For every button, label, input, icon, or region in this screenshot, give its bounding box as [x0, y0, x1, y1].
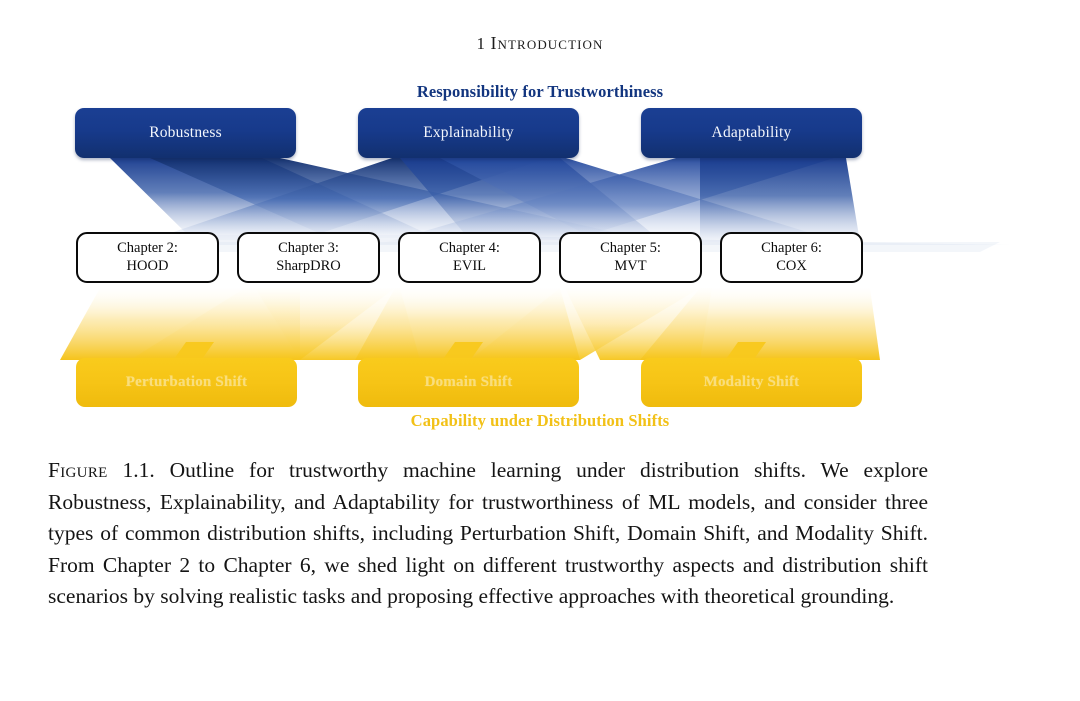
responsibility-node-explainability[interactable]: Explainability	[358, 108, 579, 158]
chapter-line-1: Chapter 4:	[439, 240, 500, 257]
node-label: Modality Shift	[704, 374, 800, 391]
shift-node-modality[interactable]: Modality Shift	[641, 358, 862, 407]
chapter-line-2: HOOD	[117, 258, 178, 275]
shift-node-perturbation[interactable]: Perturbation Shift	[76, 358, 297, 407]
running-header-title: Introduction	[490, 33, 603, 53]
chapter-line-2: EVIL	[439, 258, 500, 275]
caption-figure-label: Figure	[48, 458, 108, 482]
chapter-node-6[interactable]: Chapter 6: COX	[720, 232, 863, 283]
node-label: Perturbation Shift	[126, 374, 248, 391]
chapter-line-2: MVT	[600, 258, 661, 275]
chapter-lines: Chapter 3: SharpDRO	[276, 240, 340, 274]
responsibility-node-adaptability[interactable]: Adaptability	[641, 108, 862, 158]
figure-top-title: Responsibility for Trustworthiness	[0, 82, 1080, 102]
chapter-lines: Chapter 2: HOOD	[117, 240, 178, 274]
chapter-node-4[interactable]: Chapter 4: EVIL	[398, 232, 541, 283]
responsibility-node-robustness[interactable]: Robustness	[75, 108, 296, 158]
chapter-lines: Chapter 4: EVIL	[439, 240, 500, 274]
chapter-lines: Chapter 5: MVT	[600, 240, 661, 274]
chapter-node-3[interactable]: Chapter 3: SharpDRO	[237, 232, 380, 283]
chapter-line-1: Chapter 3:	[276, 240, 340, 257]
shift-node-domain[interactable]: Domain Shift	[358, 358, 579, 407]
chapter-node-5[interactable]: Chapter 5: MVT	[559, 232, 702, 283]
chapter-line-1: Chapter 5:	[600, 240, 661, 257]
caption-text: Outline for trustworthy machine learning…	[48, 458, 928, 608]
node-label: Robustness	[149, 124, 222, 142]
node-label: Domain Shift	[425, 374, 513, 391]
figure-caption: Figure 1.1. Outline for trustworthy mach…	[48, 455, 928, 613]
chapter-lines: Chapter 6: COX	[761, 240, 822, 274]
chapter-line-2: COX	[761, 258, 822, 275]
document-page: 1 Introduction	[0, 0, 1080, 701]
running-header: 1 Introduction	[0, 33, 1080, 54]
chapter-node-2[interactable]: Chapter 2: HOOD	[76, 232, 219, 283]
chapter-line-1: Chapter 2:	[117, 240, 178, 257]
figure-bottom-title: Capability under Distribution Shifts	[0, 411, 1080, 431]
figure-diagram: Responsibility for Trustworthiness Robus…	[0, 70, 1080, 445]
running-header-number: 1	[476, 34, 485, 53]
node-label: Explainability	[423, 124, 514, 142]
chapter-line-1: Chapter 6:	[761, 240, 822, 257]
caption-figure-number: 1.1.	[123, 458, 155, 482]
chapter-line-2: SharpDRO	[276, 258, 340, 275]
node-label: Adaptability	[712, 124, 792, 142]
